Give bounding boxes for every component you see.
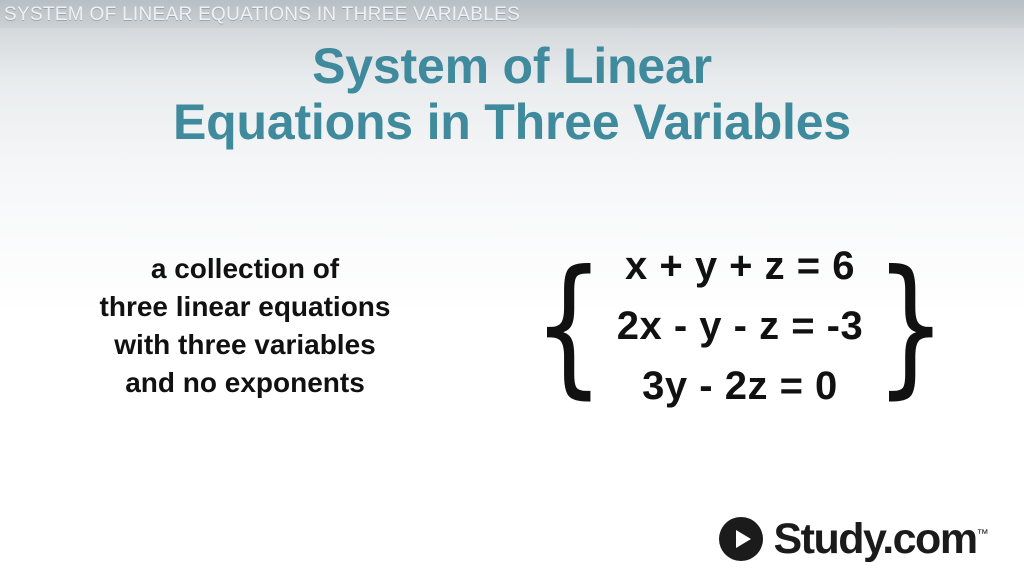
slide-canvas: SYSTEM OF LINEAR EQUATIONS IN THREE VARI… [0,0,1024,576]
definition-block: a collection of three linear equations w… [0,236,490,402]
logo-inner: Study.com™ [719,517,988,561]
slide-content: a collection of three linear equations w… [0,236,1024,416]
definition-line-1: a collection of [0,250,490,288]
equation-1: x + y + z = 6 [617,236,863,296]
logo-trademark: ™ [977,526,989,540]
left-brace: { [533,257,605,395]
play-triangle-icon [736,530,751,548]
video-title-text: SYSTEM OF LINEAR EQUATIONS IN THREE VARI… [0,5,520,24]
definition-line-3: with three variables [0,326,490,364]
video-title-bar: SYSTEM OF LINEAR EQUATIONS IN THREE VARI… [0,0,1024,28]
right-brace: } [875,257,947,395]
study-com-logo[interactable]: Study.com™ [684,502,1024,576]
definition-line-2: three linear equations [0,288,490,326]
logo-wordmark: Study.com™ [773,518,988,561]
page-title: System of Linear Equations in Three Vari… [0,38,1024,150]
equation-3: 3y - 2z = 0 [617,356,863,416]
play-circle-icon [719,517,763,561]
page-title-line-1: System of Linear [0,38,1024,94]
definition-line-4: and no exponents [0,364,490,402]
equation-2: 2x - y - z = -3 [617,296,863,356]
equation-list: x + y + z = 6 2x - y - z = -3 3y - 2z = … [611,236,869,416]
equation-system: { x + y + z = 6 2x - y - z = -3 3y - 2z … [490,236,990,416]
logo-wordmark-text: Study.com [773,515,976,563]
page-title-line-2: Equations in Three Variables [0,94,1024,150]
